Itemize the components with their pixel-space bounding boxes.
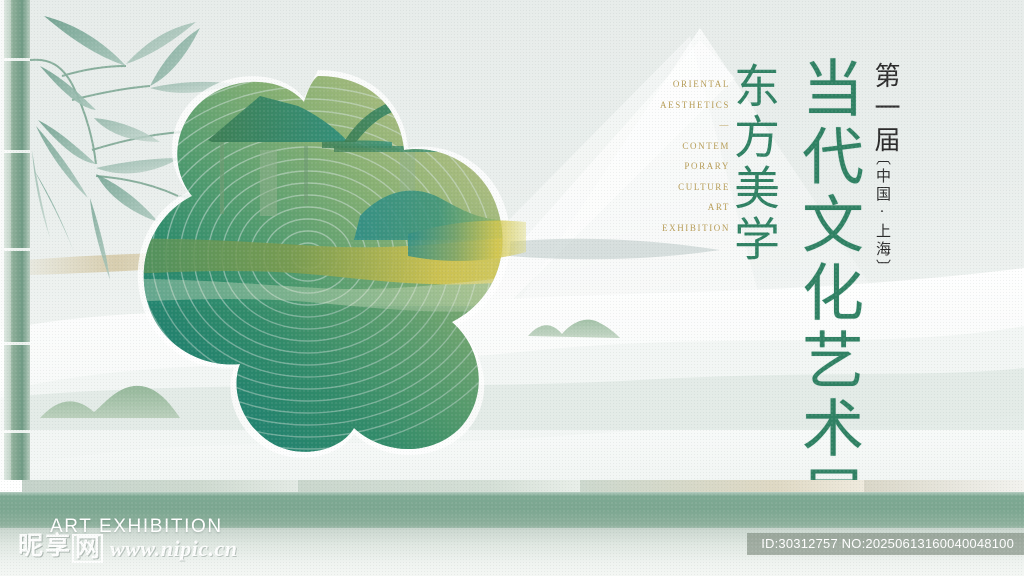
poster-canvas: ORIENTAL AESTHETICS — CONTEM PORARY CULT… [0,0,1024,576]
paper-grain-overlay [0,0,1024,576]
